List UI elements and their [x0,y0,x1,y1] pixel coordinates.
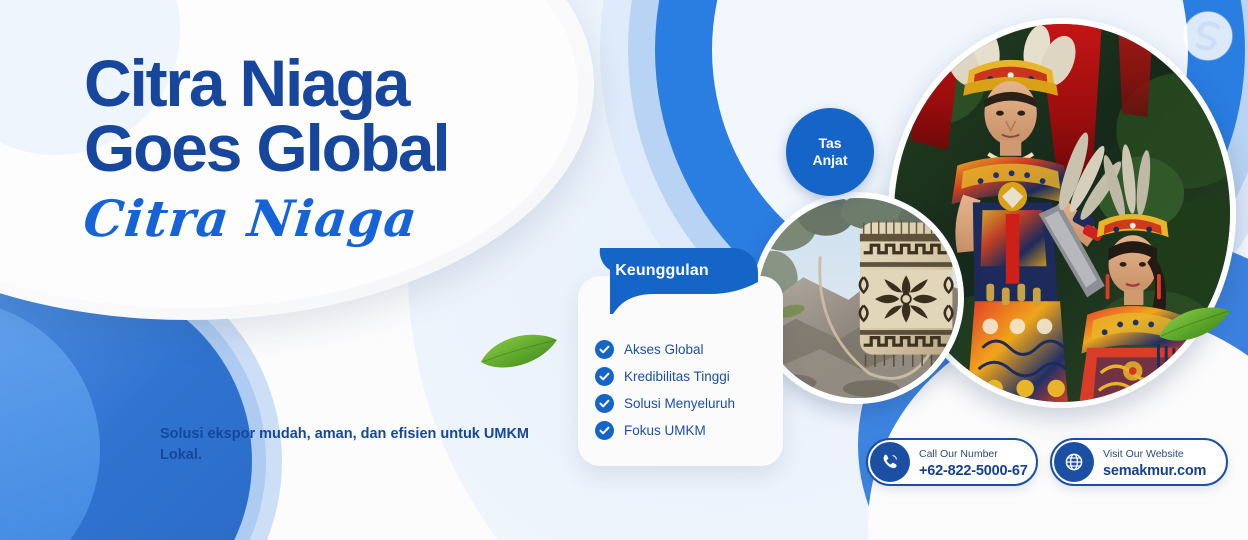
visit-website-value: semakmur.com [1103,463,1206,479]
swirl-s-logo-icon[interactable] [1182,10,1234,62]
list-item: Kredibilitas Tinggi [595,367,735,386]
list-item-label: Solusi Menyeluruh [624,396,735,411]
badge-line-1: Tas [818,135,841,151]
badge-line-2: Anjat [813,152,848,168]
visit-website-button[interactable]: Visit Our Website semakmur.com [1050,438,1228,486]
phone-icon [870,442,910,482]
call-number-button[interactable]: Call Our Number +62-822-5000-67 [866,438,1038,486]
keunggulan-title: Keunggulan [578,262,746,280]
call-number-text: Call Our Number +62-822-5000-67 [919,444,1028,480]
check-icon [595,367,614,386]
headline-line-1: Citra Niaga [84,52,604,115]
tagline: Solusi ekspor mudah, aman, dan efisien u… [160,424,532,465]
visit-website-text: Visit Our Website semakmur.com [1103,444,1206,480]
call-number-label: Call Our Number [919,448,998,460]
list-item: Akses Global [595,340,735,359]
headline-script-brand: Citra Niaga [81,189,607,248]
leaf-icon [476,328,562,376]
list-item-label: Fokus UMKM [624,423,706,438]
tas-anjat-badge: Tas Anjat [786,108,874,196]
list-item-label: Kredibilitas Tinggi [624,369,730,384]
check-icon [595,421,614,440]
visit-website-label: Visit Our Website [1103,448,1184,460]
list-item-label: Akses Global [624,342,704,357]
headline-block: Citra Niaga Goes Global Citra Niaga [84,52,604,248]
check-icon [595,394,614,413]
globe-icon [1054,442,1094,482]
list-item: Fokus UMKM [595,421,735,440]
list-item: Solusi Menyeluruh [595,394,735,413]
keunggulan-tab-shape [578,248,758,314]
promo-banner: Citra Niaga Goes Global Citra Niaga Solu… [0,0,1248,540]
call-number-value: +62-822-5000-67 [919,463,1028,479]
check-icon [595,340,614,359]
headline-line-2: Goes Global [84,117,604,180]
keunggulan-list: Akses Global Kredibilitas Tinggi Solusi … [595,340,735,448]
keunggulan-card: Keunggulan Akses Global Kredibilitas Tin… [578,248,788,466]
